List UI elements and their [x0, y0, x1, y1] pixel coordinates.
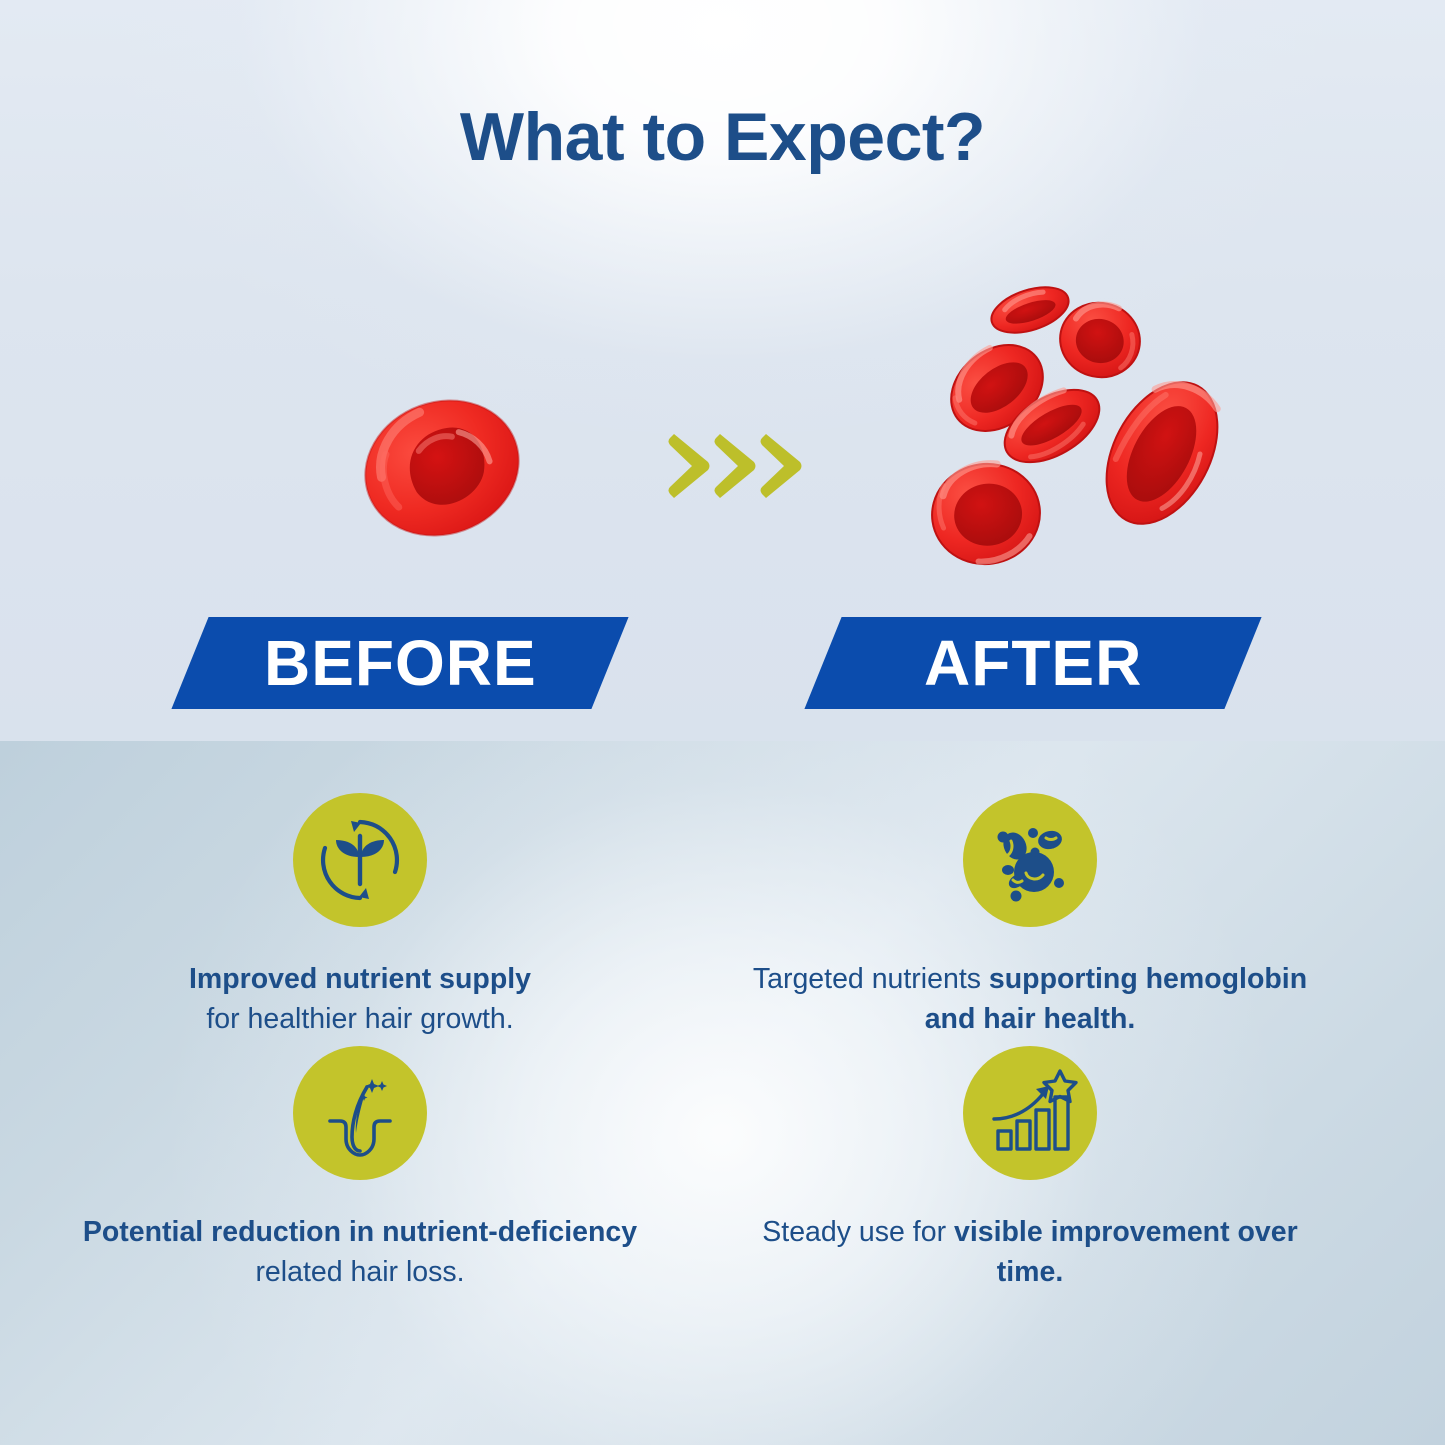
benefit-text-hair-loss: Potential reduction in nutrient-deficien… [80, 1212, 640, 1293]
benefit-item-hair-loss: Potential reduction in nutrient-deficien… [60, 1046, 660, 1293]
benefit-bold-text: Improved nutrient supply [189, 963, 531, 995]
growth-chart-star-icon [980, 1063, 1080, 1163]
benefit-regular-text: related hair loss. [255, 1256, 464, 1288]
before-banner-label: BEFORE [264, 631, 537, 695]
benefit-bold-text: Potential reduction in nutrient-deficien… [83, 1216, 637, 1248]
before-after-section: What to Expect? [0, 0, 1445, 741]
benefit-item-hemoglobin: Targeted nutrients supporting hemoglobin… [730, 793, 1330, 1040]
hair-follicle-icon-badge [293, 1046, 427, 1180]
single-red-blood-cell-icon [352, 386, 532, 551]
red-blood-cell-cluster-icon [900, 268, 1245, 573]
after-banner-label: AFTER [924, 631, 1142, 695]
page-title: What to Expect? [0, 103, 1445, 171]
benefit-bold-text: visible improvement over time. [954, 1216, 1298, 1288]
growth-chart-star-icon-badge [963, 1046, 1097, 1180]
after-blood-cell-illustration [900, 268, 1245, 573]
hair-follicle-icon [310, 1063, 410, 1163]
before-banner: BEFORE [171, 617, 628, 709]
infographic-page: What to Expect? [0, 0, 1445, 1445]
plant-cycle-icon-badge [293, 793, 427, 927]
benefit-regular-text: Targeted nutrients [753, 963, 989, 995]
blood-cells-icon [980, 810, 1080, 910]
benefit-item-nutrient-supply: Improved nutrient supply for healthier h… [60, 793, 660, 1040]
benefits-section: Improved nutrient supply for healthier h… [0, 741, 1445, 1445]
before-blood-cell-illustration [352, 386, 532, 551]
benefit-text-visible-improvement: Steady use for visible improvement over … [750, 1212, 1310, 1293]
benefit-regular-text: for healthier hair growth. [206, 1003, 513, 1035]
triple-chevron-right-icon [664, 432, 814, 500]
benefit-text-nutrient-supply: Improved nutrient supply for healthier h… [189, 959, 531, 1040]
blood-cells-icon-badge [963, 793, 1097, 927]
benefit-item-visible-improvement: Steady use for visible improvement over … [730, 1046, 1330, 1293]
after-banner: AFTER [804, 617, 1261, 709]
benefit-text-hemoglobin: Targeted nutrients supporting hemoglobin… [750, 959, 1310, 1040]
benefits-grid: Improved nutrient supply for healthier h… [0, 741, 1445, 1445]
plant-cycle-icon [310, 810, 410, 910]
benefit-regular-text: Steady use for [762, 1216, 954, 1248]
